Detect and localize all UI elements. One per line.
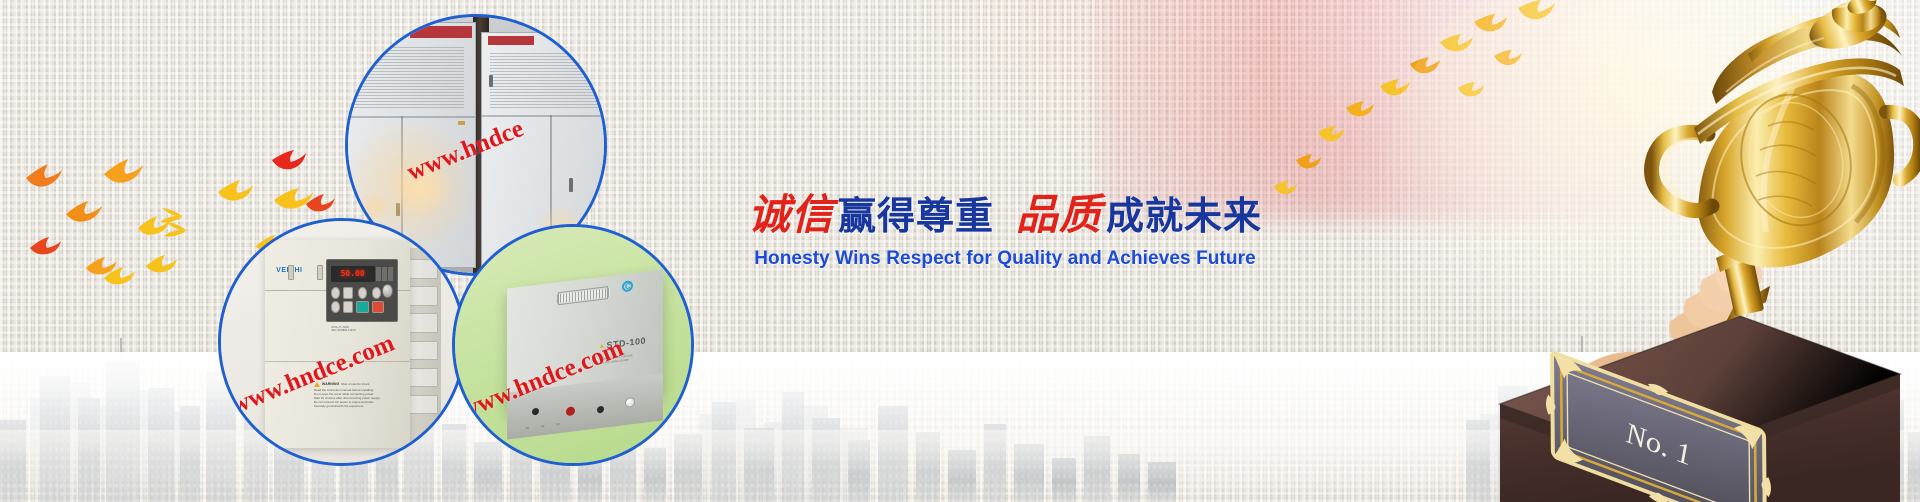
std-warning-triangle-icon — [600, 343, 604, 347]
std-c-logo: C — [622, 280, 633, 292]
vfd-button-fwd[interactable] — [356, 301, 369, 312]
vfd-potentiometer[interactable] — [382, 284, 393, 297]
circle-veichi-vfd[interactable]: VEICHI 50.00 — [218, 218, 466, 466]
std-port-label: 02 — [541, 424, 544, 428]
vfd-button-menu[interactable] — [372, 287, 381, 298]
vfd-button-enter[interactable] — [358, 287, 367, 298]
warning-triangle-icon — [314, 382, 320, 387]
gold-trophy: No. 1 — [1200, 0, 1920, 502]
vfd-button-down[interactable] — [343, 301, 353, 312]
slogan-english-line: Honesty Wins Respect for Quality and Ach… — [735, 248, 1275, 270]
slogan-chinese-line: 诚信 赢得尊重 品质 成就未来 — [735, 195, 1275, 237]
vfd-panel-note-2: SEC SPD800-3.0KW — [331, 329, 355, 333]
vfd-button-shift[interactable] — [331, 301, 340, 312]
vfd-body: VEICHI 50.00 — [265, 240, 410, 448]
slogan-block: 诚信 赢得尊重 品质 成就未来 Honesty Wins Respect for… — [735, 195, 1275, 270]
promo-banner: www.hndce VEICHI 50.00 — [0, 0, 1920, 502]
vfd-warning-block: WARNING Risk of electric shock Read the … — [314, 382, 404, 408]
warning-line: Securely ground/earth the equipment. — [314, 404, 404, 408]
vfd-keypad-panel[interactable]: 50.00 — [326, 259, 399, 321]
slogan-cn-2: 赢得尊重 — [838, 196, 994, 238]
vfd-warning-subtitle: Risk of electric shock — [341, 382, 369, 386]
std-model-label: STD-100 — [606, 335, 646, 350]
std-port-label: 01 — [526, 425, 529, 429]
vfd-display: 50.00 — [331, 266, 375, 282]
slogan-cn-1: 诚信 — [748, 193, 834, 239]
slogan-cn-3: 品质 — [1016, 193, 1102, 239]
vfd-button-up[interactable] — [343, 287, 353, 298]
vfd-warning-title: WARNING — [322, 382, 339, 386]
vfd-heatsink — [405, 248, 441, 442]
vfd-button-stop[interactable] — [372, 301, 385, 312]
vfd-button-prg[interactable] — [331, 287, 340, 298]
std-port-label: 03 — [556, 422, 559, 426]
circle-std-100-box[interactable]: STD-100 DANGER / HIGH VOLTAGEDO NOT OPEN… — [452, 224, 694, 466]
